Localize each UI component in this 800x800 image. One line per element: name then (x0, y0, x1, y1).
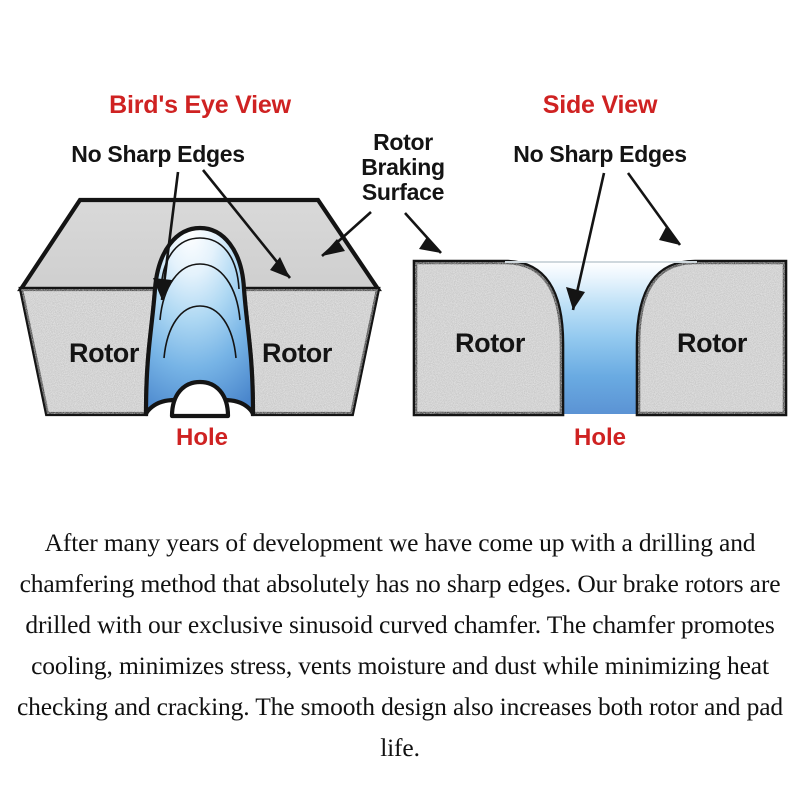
rotor-label-right-birdseye: Rotor (262, 338, 333, 368)
no-sharp-edges-label-right: No Sharp Edges (513, 141, 686, 167)
side-view-group: Side View No Sharp Edges Rotor Rotor Hol… (405, 91, 785, 451)
rotor-label-left-birdseye: Rotor (69, 338, 140, 368)
leader-no-sharp-edges-right-b (628, 173, 680, 245)
diagram-page: Bird's Eye View No Sharp Edges Rotor Bra… (0, 0, 800, 800)
braking-surface-line-1: Rotor (373, 129, 433, 155)
side-view-title: Side View (543, 91, 658, 119)
hole-label-sideview: Hole (574, 424, 626, 451)
rotor-label-left-sideview: Rotor (455, 328, 526, 358)
description-paragraph: After many years of development we have … (8, 522, 792, 768)
rotor-label-right-sideview: Rotor (677, 328, 748, 358)
birds-eye-view-group: Bird's Eye View No Sharp Edges Rotor Bra… (21, 91, 445, 451)
rotor-braking-surface-label: Rotor Braking Surface (361, 129, 445, 205)
no-sharp-edges-label-left: No Sharp Edges (71, 141, 244, 167)
leader-braking-surface-to-sideview (405, 213, 441, 253)
braking-surface-line-3: Surface (362, 179, 444, 205)
birds-eye-view-title: Bird's Eye View (109, 91, 291, 119)
braking-surface-line-2: Braking (361, 154, 445, 180)
rotor-chamfer-diagram: Bird's Eye View No Sharp Edges Rotor Bra… (0, 0, 800, 500)
hole-label-birdseye: Hole (176, 424, 228, 451)
